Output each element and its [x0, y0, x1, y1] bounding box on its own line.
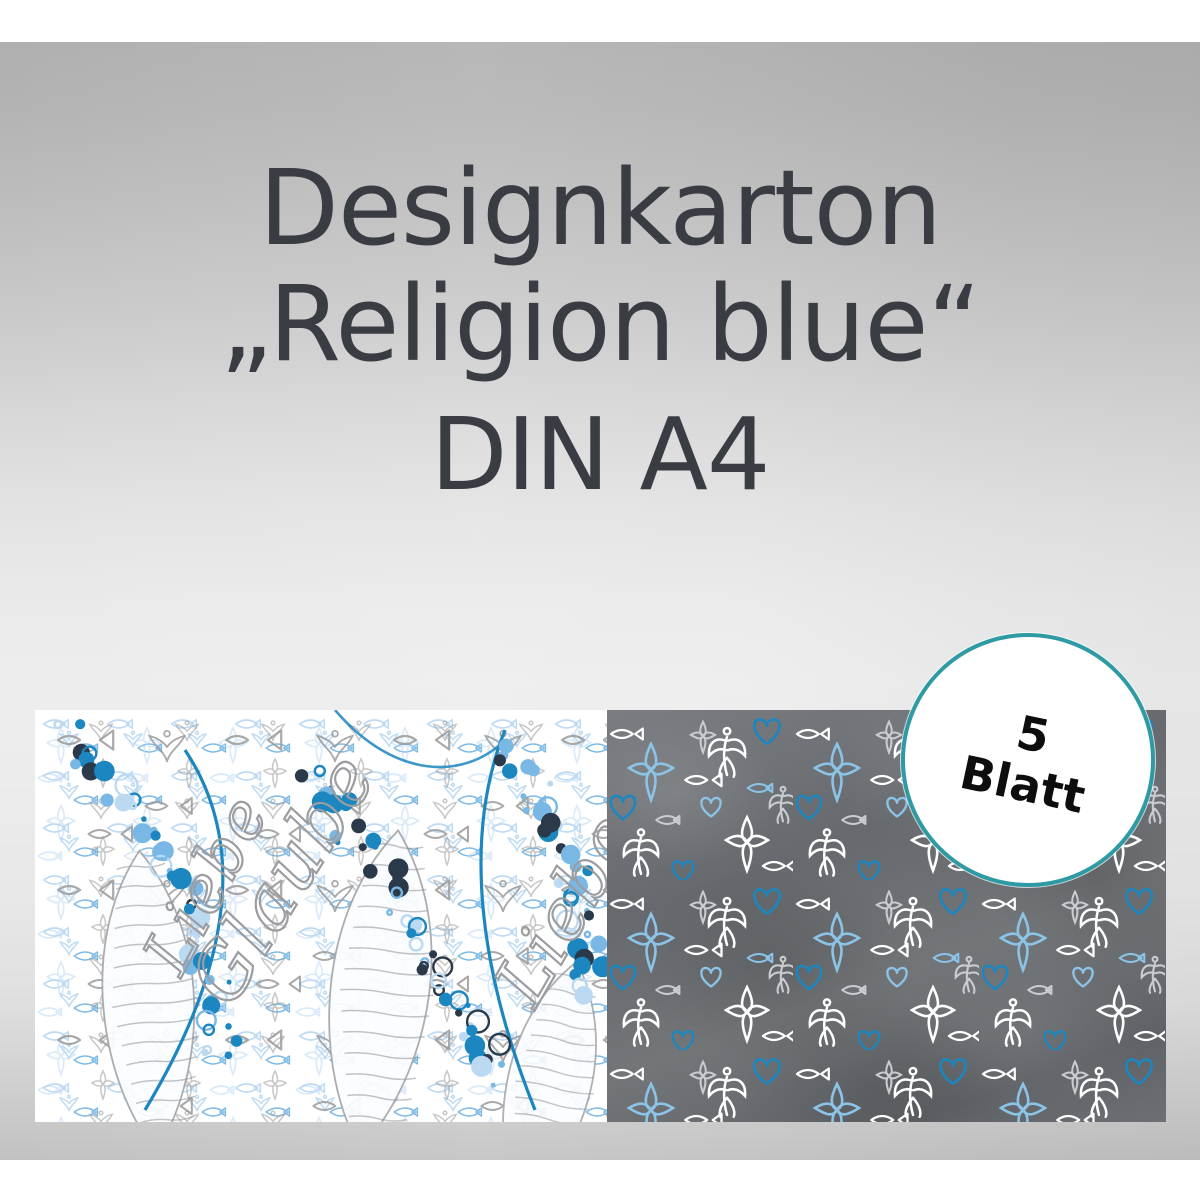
page-title: Designkarton „Religion blue“ DIN A4 — [0, 150, 1200, 511]
left-sheet-artwork: GlaubeLiebeLiebe — [35, 710, 607, 1122]
badge-text: 5 Blatt — [956, 697, 1100, 822]
title-line-3: DIN A4 — [0, 399, 1200, 511]
title-line-1: Designkarton — [0, 150, 1200, 266]
title-line-2: „Religion blue“ — [0, 266, 1200, 382]
status-badge: 5 Blatt — [901, 633, 1155, 887]
product-image: Designkarton „Religion blue“ DIN A4 Glau… — [0, 0, 1200, 1200]
sample-left-sheet: GlaubeLiebeLiebe — [35, 710, 607, 1122]
